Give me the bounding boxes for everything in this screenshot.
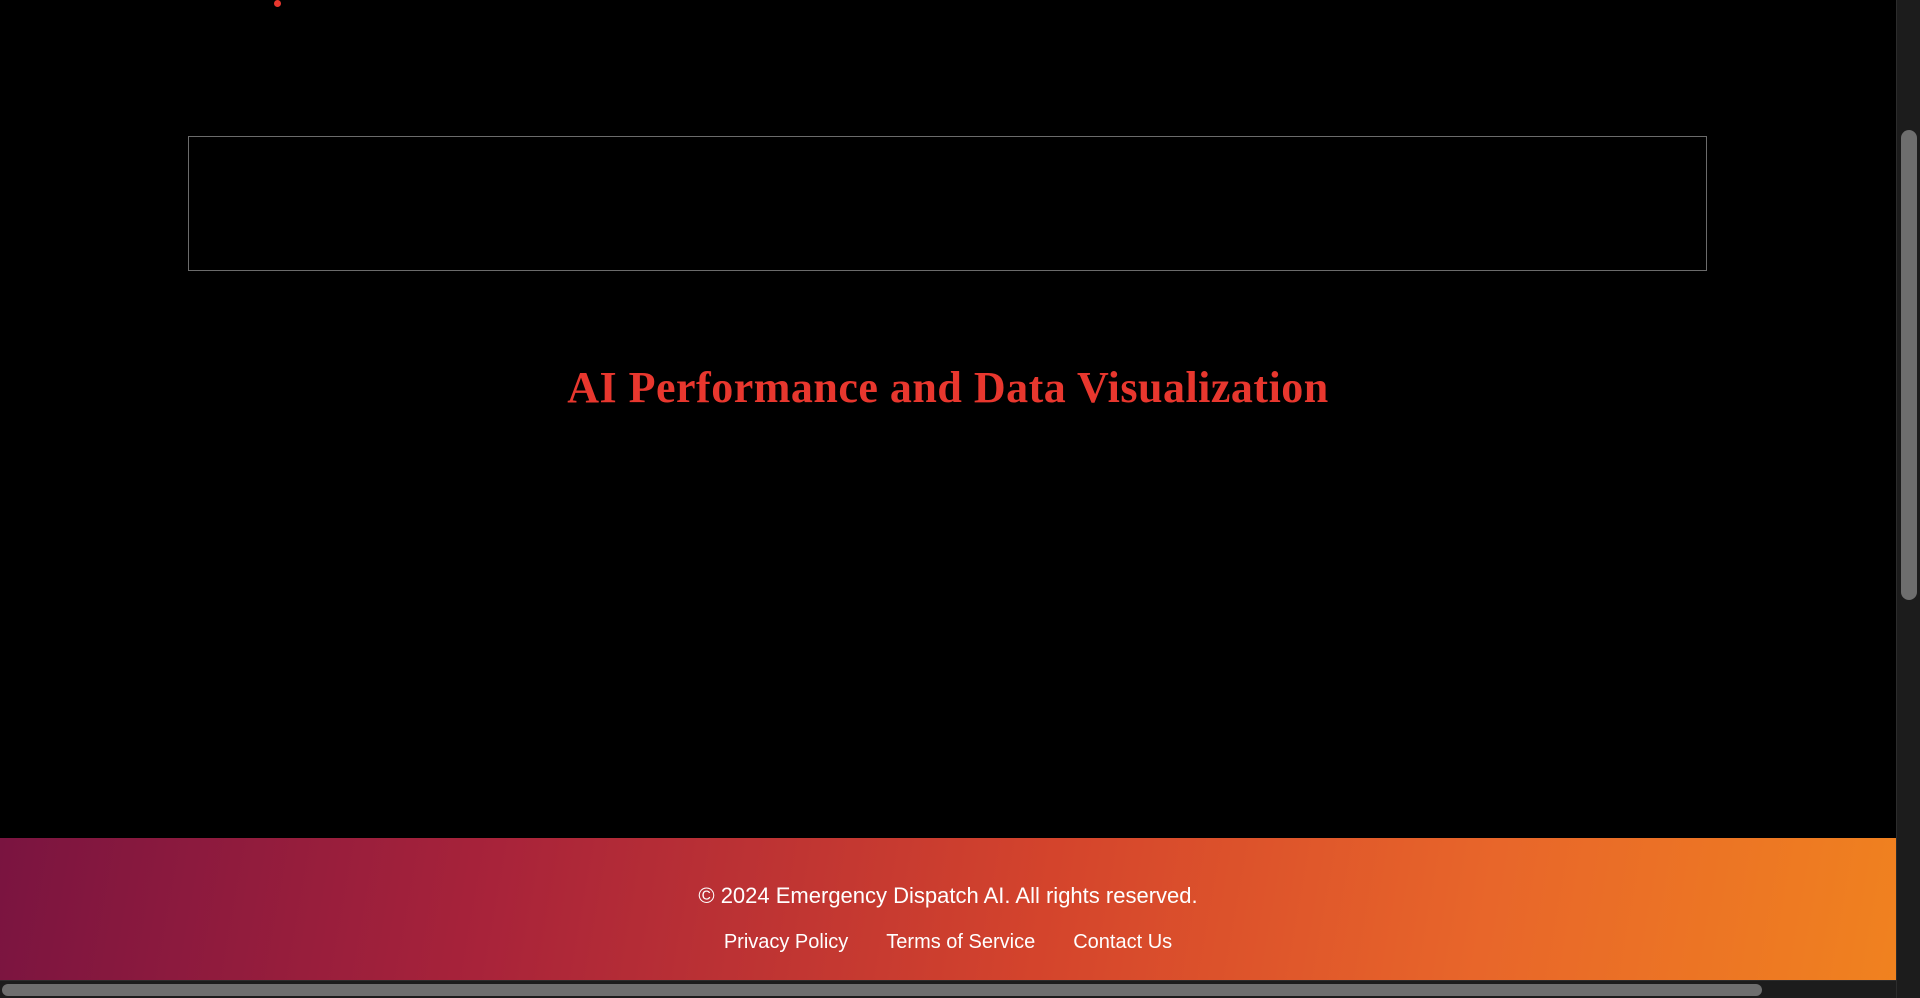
site-footer: © 2024 Emergency Dispatch AI. All rights…	[0, 838, 1896, 998]
footer-link-2[interactable]: Contact Us	[1073, 931, 1172, 954]
footer-link-0[interactable]: Privacy Policy	[724, 931, 848, 954]
visualization-strip: Heatmap of Emergency Calls by Hour and D…	[0, 452, 1896, 772]
footer-link-1[interactable]: Terms of Service	[886, 931, 1035, 954]
vertical-scrollbar[interactable]	[1896, 0, 1920, 998]
page-bullet-dot	[274, 0, 281, 7]
content-placeholder-box	[188, 136, 1707, 271]
footer-links: Privacy PolicyTerms of ServiceContact Us	[724, 931, 1172, 954]
horizontal-scrollbar-thumb[interactable]	[2, 984, 1762, 996]
vertical-scrollbar-thumb[interactable]	[1901, 130, 1917, 600]
page-title: AI Performance and Data Visualization	[0, 362, 1896, 413]
horizontal-scrollbar[interactable]	[0, 980, 1896, 998]
footer-copyright: © 2024 Emergency Dispatch AI. All rights…	[698, 883, 1197, 909]
